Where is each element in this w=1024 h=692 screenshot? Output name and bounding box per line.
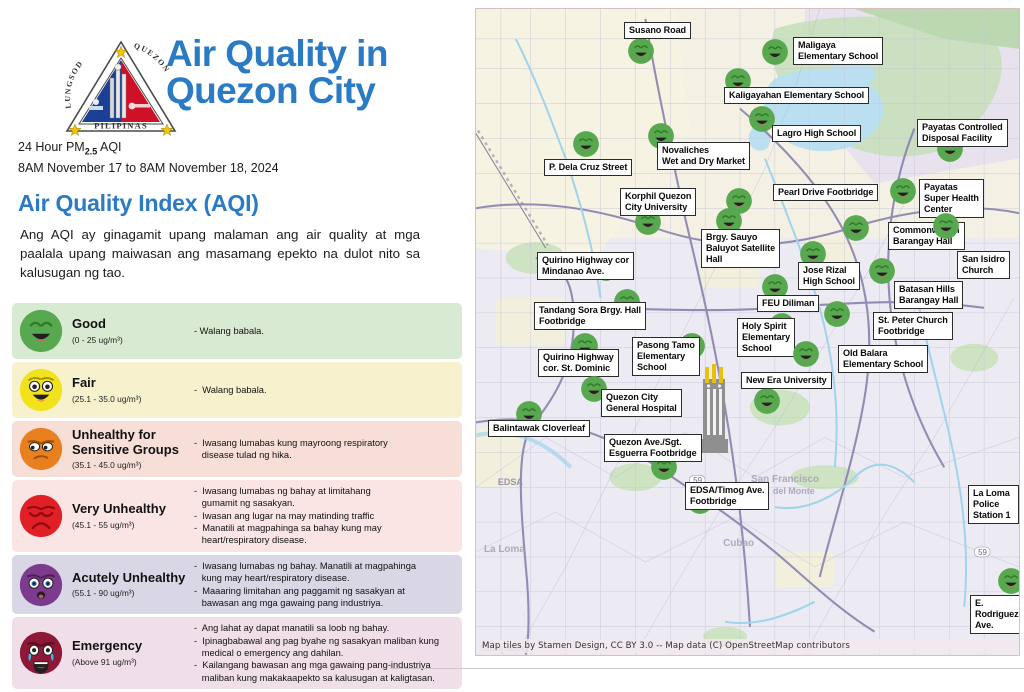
aqi-face-sad bbox=[18, 493, 64, 539]
station-label[interactable]: San Isidro Church bbox=[957, 251, 1010, 279]
route-shield-59b: 59 bbox=[978, 548, 987, 557]
aqi-category-text: Unhealthy for Sensitive Groups(35.1 - 45… bbox=[72, 428, 190, 470]
station-label[interactable]: Quirino Highway cor. St. Dominic bbox=[538, 349, 619, 377]
metric-prefix: 24 Hour PM bbox=[18, 140, 85, 154]
advice-line: - Maaaring limitahan ang paggamit ng sas… bbox=[194, 585, 456, 610]
advice-line: - Ipinagbabawal ang pag byahe ng sasakya… bbox=[194, 635, 456, 660]
station-marker[interactable] bbox=[997, 567, 1020, 595]
aqi-heading: Air Quality Index (AQI) bbox=[18, 190, 259, 217]
aqi-face-icon bbox=[18, 630, 64, 676]
map-place-laloma: La Loma bbox=[484, 544, 525, 555]
title-line-2: Quezon City bbox=[166, 73, 471, 110]
title-line-1: Air Quality in bbox=[166, 36, 471, 73]
aqi-category-name: Good bbox=[72, 317, 190, 332]
aqi-category-name: Unhealthy for Sensitive Groups bbox=[72, 428, 190, 457]
aqi-face-icon bbox=[18, 426, 64, 472]
quezon-city-map[interactable]: San Francisco del Monte La Loma Cubao Sa… bbox=[475, 8, 1020, 656]
aqi-category-advice: - Walang babala. bbox=[190, 384, 456, 396]
aqi-category-text: Fair(25.1 - 35.0 ug/m³) bbox=[72, 376, 190, 404]
aqi-category-row: Acutely Unhealthy(55.1 - 90 ug/m³)- Iwas… bbox=[12, 555, 462, 614]
aqi-face-shocked bbox=[18, 562, 64, 608]
map-attribution: Map tiles by Stamen Design, CC BY 3.0 --… bbox=[478, 639, 1017, 653]
aqi-category-advice: - Iwasang lumabas kung mayroong respirat… bbox=[190, 437, 456, 462]
aqi-face-icon bbox=[18, 562, 64, 608]
advice-line: - Iwasang lumabas ng bahay. Manatili at … bbox=[194, 560, 456, 585]
aqi-category-range: (25.1 - 35.0 ug/m³) bbox=[72, 394, 190, 404]
aqi-face-happy-closed-eyes bbox=[842, 214, 870, 242]
aqi-category-range: (35.1 - 45.0 ug/m³) bbox=[72, 460, 190, 470]
station-label[interactable]: Jose Rizal High School bbox=[798, 262, 860, 290]
aqi-face-happy-closed-eyes bbox=[997, 567, 1020, 595]
advice-line: - Walang babala. bbox=[194, 384, 456, 396]
aqi-face-happy-closed-eyes bbox=[761, 38, 789, 66]
advice-line: - Walang babala. bbox=[194, 325, 456, 337]
station-marker[interactable] bbox=[572, 130, 600, 158]
logo-bottom-text: PILIPINAS bbox=[94, 121, 148, 131]
aqi-category-range: (Above 91 ug/m³) bbox=[72, 657, 190, 667]
aqi-category-advice: - Iwasang lumabas ng bahay at limitahang… bbox=[190, 485, 456, 547]
station-label[interactable]: E. Rodriguez Ave. bbox=[970, 595, 1020, 634]
aqi-category-range: (45.1 - 55 ug/m³) bbox=[72, 520, 190, 530]
aqi-category-name: Emergency bbox=[72, 639, 190, 654]
station-label[interactable]: Holy Spirit Elementary School bbox=[737, 318, 795, 357]
station-label[interactable]: Lagro High School bbox=[772, 125, 861, 142]
station-label[interactable]: Novaliches Wet and Dry Market bbox=[657, 142, 750, 170]
aqi-face-worried bbox=[18, 426, 64, 472]
aqi-face-icon bbox=[18, 308, 64, 354]
station-marker[interactable] bbox=[823, 300, 851, 328]
station-marker[interactable] bbox=[753, 387, 781, 415]
logo-left-text: LUNGSOD bbox=[63, 59, 85, 110]
station-marker[interactable] bbox=[627, 37, 655, 65]
header: PILIPINAS LUNGSOD QUEZON Air Quality in … bbox=[14, 22, 469, 147]
advice-line: - Iwasan ang lugar na may matinding traf… bbox=[194, 510, 456, 522]
station-label[interactable]: St. Peter Church Footbridge bbox=[873, 312, 953, 340]
station-marker[interactable] bbox=[842, 214, 870, 242]
station-marker[interactable] bbox=[761, 38, 789, 66]
advice-line: - Iwasang lumabas ng bahay at limitahang… bbox=[194, 485, 456, 510]
station-label[interactable]: La Loma Police Station 1 bbox=[968, 485, 1019, 524]
aqi-category-advice: - Iwasang lumabas ng bahay. Manatili at … bbox=[190, 560, 456, 609]
aqi-description: Ang AQI ay ginagamit upang malaman ang a… bbox=[20, 226, 420, 283]
aqi-category-row: Fair(25.1 - 35.0 ug/m³)- Walang babala. bbox=[12, 362, 462, 418]
aqi-category-name: Very Unhealthy bbox=[72, 502, 190, 517]
svg-text:del Monte: del Monte bbox=[773, 486, 815, 496]
metric-subscript: 2.5 bbox=[85, 147, 98, 157]
aqi-face-happy-closed-eyes bbox=[792, 340, 820, 368]
station-label[interactable]: Quirino Highway cor Mindanao Ave. bbox=[537, 252, 634, 280]
left-panel: PILIPINAS LUNGSOD QUEZON Air Quality in … bbox=[0, 0, 472, 675]
aqi-category-range: (0 - 25 ug/m³) bbox=[72, 335, 190, 345]
station-marker[interactable] bbox=[932, 212, 960, 240]
aqi-category-advice: - Walang babala. bbox=[190, 325, 456, 337]
station-label[interactable]: Batasan Hills Barangay Hall bbox=[894, 281, 963, 309]
station-label[interactable]: Quezon Ave./Sgt. Esguerra Footbridge bbox=[604, 434, 702, 462]
aqi-face-icon bbox=[18, 493, 64, 539]
station-label[interactable]: Brgy. Sauyo Baluyot Satellite Hall bbox=[701, 229, 780, 268]
air-quality-infographic: PILIPINAS LUNGSOD QUEZON Air Quality in … bbox=[0, 0, 1024, 675]
station-label[interactable]: Balintawak Cloverleaf bbox=[488, 420, 590, 437]
advice-line: - Kailangang bawasan ang mga gawaing pan… bbox=[194, 659, 456, 684]
aqi-category-text: Very Unhealthy(45.1 - 55 ug/m³) bbox=[72, 502, 190, 530]
aqi-face-happy-closed-eyes bbox=[627, 37, 655, 65]
aqi-category-row: Very Unhealthy(45.1 - 55 ug/m³)- Iwasang… bbox=[12, 480, 462, 552]
station-marker[interactable] bbox=[868, 257, 896, 285]
aqi-category-text: Good(0 - 25 ug/m³) bbox=[72, 317, 190, 345]
aqi-category-row: Emergency(Above 91 ug/m³)- Ang lahat ay … bbox=[12, 617, 462, 689]
station-label[interactable]: Pasong Tamo Elementary School bbox=[632, 337, 700, 376]
station-label[interactable]: Susano Road bbox=[624, 22, 691, 39]
station-label[interactable]: P. Dela Cruz Street bbox=[544, 159, 632, 176]
station-marker[interactable] bbox=[889, 177, 917, 205]
aqi-category-text: Emergency(Above 91 ug/m³) bbox=[72, 639, 190, 667]
aqi-face-icon bbox=[18, 367, 64, 413]
station-label[interactable]: Korphil Quezon City University bbox=[620, 188, 696, 216]
aqi-face-happy-closed-eyes bbox=[823, 300, 851, 328]
station-label[interactable]: EDSA/Timog Ave. Footbridge bbox=[685, 482, 769, 510]
aqi-category-range: (55.1 - 90 ug/m³) bbox=[72, 588, 190, 598]
advice-line: - Manatili at magpahinga sa bahay kung m… bbox=[194, 522, 456, 547]
station-label[interactable]: Maligaya Elementary School bbox=[793, 37, 883, 65]
aqi-face-happy-closed-eyes bbox=[18, 308, 64, 354]
aqi-category-row: Unhealthy for Sensitive Groups(35.1 - 45… bbox=[12, 421, 462, 477]
station-label[interactable]: Payatas Controlled Disposal Facility bbox=[917, 119, 1008, 147]
station-label[interactable]: Quezon City General Hospital bbox=[601, 389, 682, 417]
quezon-city-seal-logo: PILIPINAS LUNGSOD QUEZON bbox=[62, 36, 180, 136]
station-label[interactable]: Tandang Sora Brgy. Hall Footbridge bbox=[534, 302, 646, 330]
advice-line: - Iwasang lumabas kung mayroong respirat… bbox=[194, 437, 456, 462]
aqi-face-happy-closed-eyes bbox=[572, 130, 600, 158]
aqi-face-happy-closed-eyes bbox=[868, 257, 896, 285]
metric-suffix: AQI bbox=[97, 140, 121, 154]
page-title: Air Quality in Quezon City bbox=[166, 36, 471, 109]
station-marker[interactable] bbox=[792, 340, 820, 368]
aqi-category-name: Fair bbox=[72, 376, 190, 391]
aqi-category-text: Acutely Unhealthy(55.1 - 90 ug/m³) bbox=[72, 571, 190, 599]
station-label[interactable]: Kaligayahan Elementary School bbox=[724, 87, 869, 104]
advice-line: - Ang lahat ay dapat manatili sa loob ng… bbox=[194, 622, 456, 634]
aqi-face-happy-closed-eyes bbox=[889, 177, 917, 205]
aqi-face-happy-closed-eyes bbox=[932, 212, 960, 240]
station-label[interactable]: New Era University bbox=[741, 372, 832, 389]
date-range: 8AM November 17 to 8AM November 18, 2024 bbox=[18, 161, 279, 175]
map-place-cubao: Cubao bbox=[723, 538, 754, 549]
aqi-face-crying bbox=[18, 630, 64, 676]
aqi-face-happy-closed-eyes bbox=[753, 387, 781, 415]
map-place-edsa: EDSA bbox=[498, 477, 523, 487]
aqi-category-row: Good(0 - 25 ug/m³)- Walang babala. bbox=[12, 303, 462, 359]
aqi-category-name: Acutely Unhealthy bbox=[72, 571, 190, 586]
station-label[interactable]: Pearl Drive Footbridge bbox=[773, 184, 878, 201]
metric-subtitle: 24 Hour PM2.5 AQI bbox=[18, 140, 122, 157]
footer-divider bbox=[390, 668, 1024, 669]
aqi-face-wide-eyes-smile bbox=[18, 367, 64, 413]
aqi-legend-table: Good(0 - 25 ug/m³)- Walang babala. Fair(… bbox=[12, 303, 462, 692]
station-label[interactable]: Old Balara Elementary School bbox=[838, 345, 928, 373]
station-label[interactable]: FEU Diliman bbox=[757, 295, 819, 312]
